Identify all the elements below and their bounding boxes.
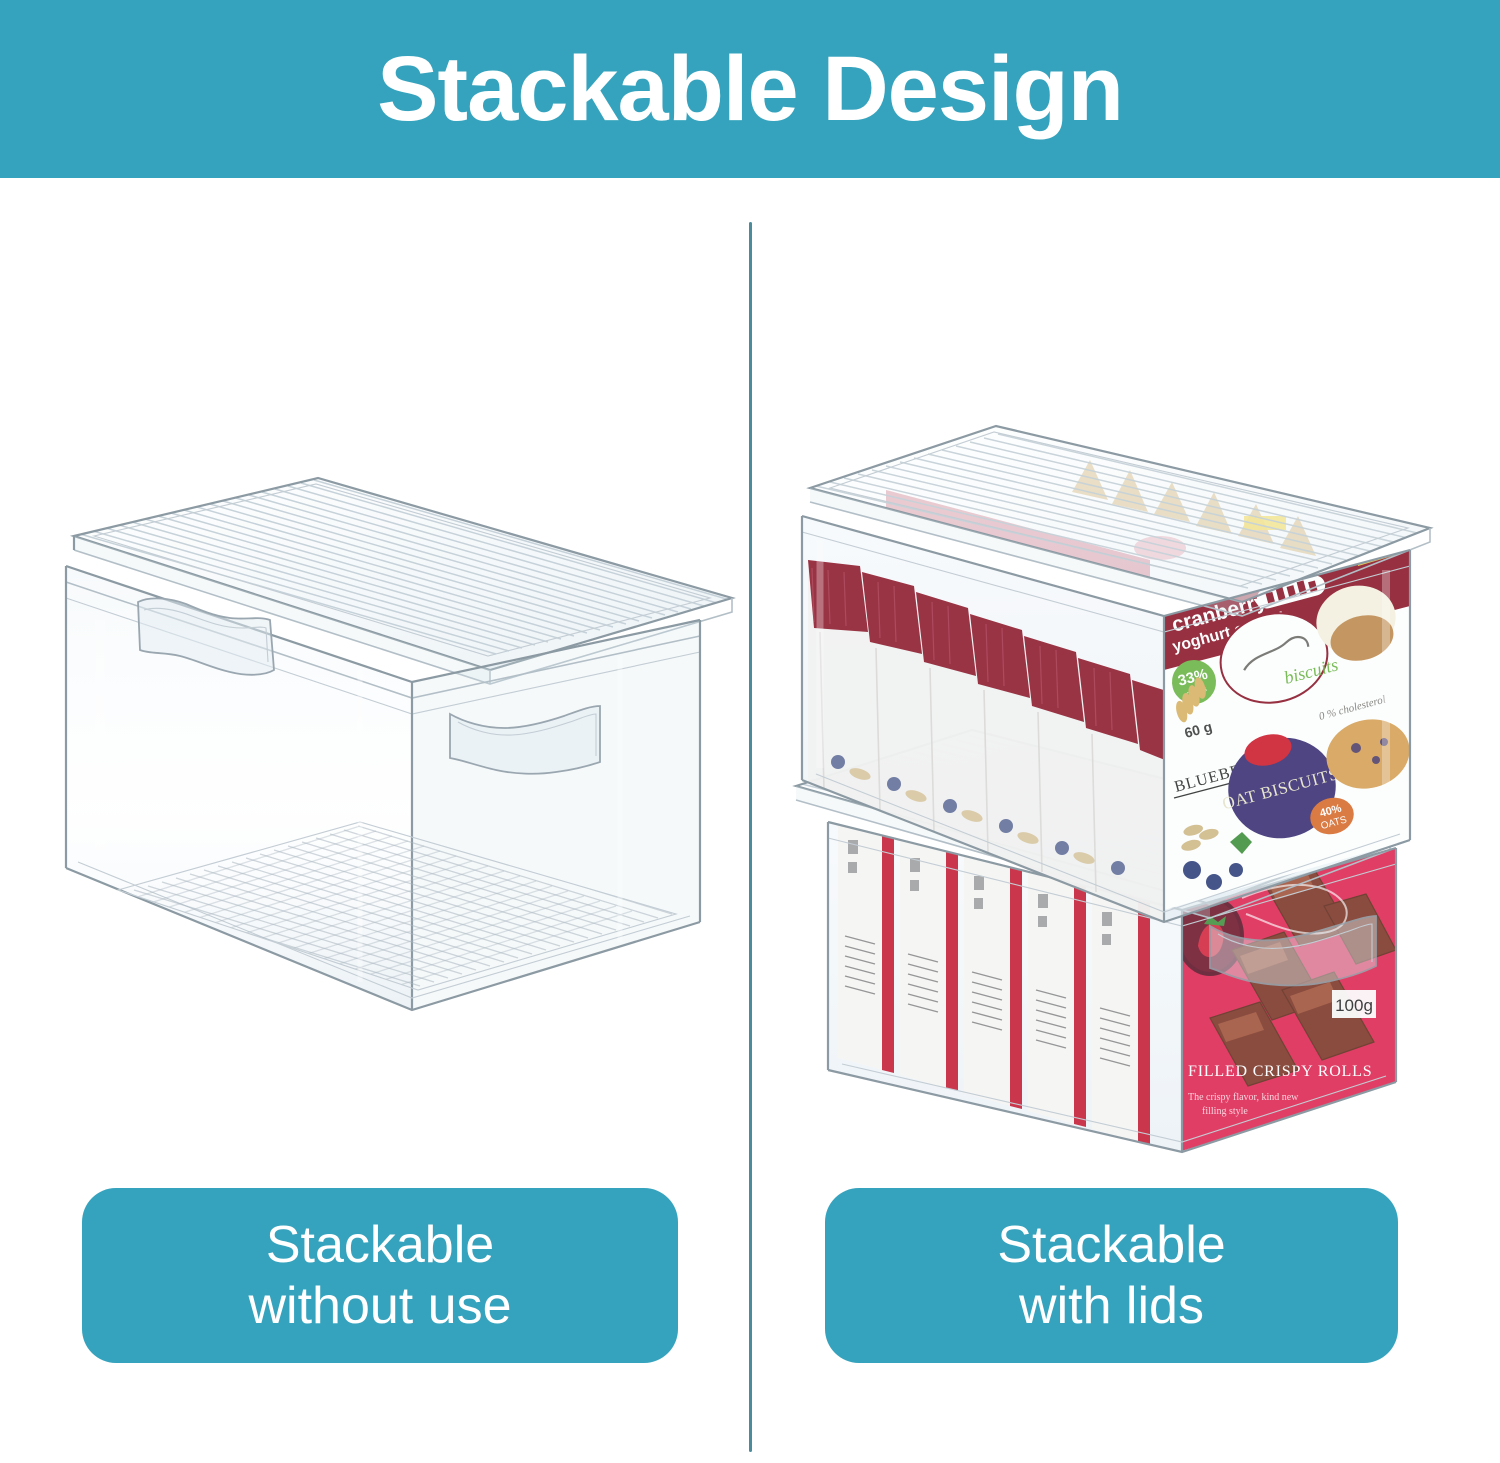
caption-pill-right: Stackable with lids (825, 1188, 1398, 1363)
clear-bin-illustration (60, 470, 750, 1050)
caption-right-line1: Stackable (997, 1215, 1225, 1276)
stacked-bins-illustration: 100g FILLED CRISPY ROLLS The crispy flav… (790, 370, 1470, 1160)
product-image-stacked-bins: 100g FILLED CRISPY ROLLS The crispy flav… (790, 370, 1470, 1160)
panel-right: 100g FILLED CRISPY ROLLS The crispy flav… (750, 178, 1500, 1463)
infographic-page: Stackable Design (0, 0, 1500, 1463)
caption-left-line1: Stackable (266, 1215, 494, 1276)
panel-left: Stackable without use (0, 178, 750, 1463)
caption-right-line2: with lids (1019, 1276, 1204, 1337)
page-title: Stackable Design (377, 43, 1123, 135)
caption-pill-left: Stackable without use (82, 1188, 678, 1363)
header-banner: Stackable Design (0, 0, 1500, 178)
caption-left-line2: without use (248, 1276, 511, 1337)
product-image-empty-bin (60, 470, 750, 1050)
